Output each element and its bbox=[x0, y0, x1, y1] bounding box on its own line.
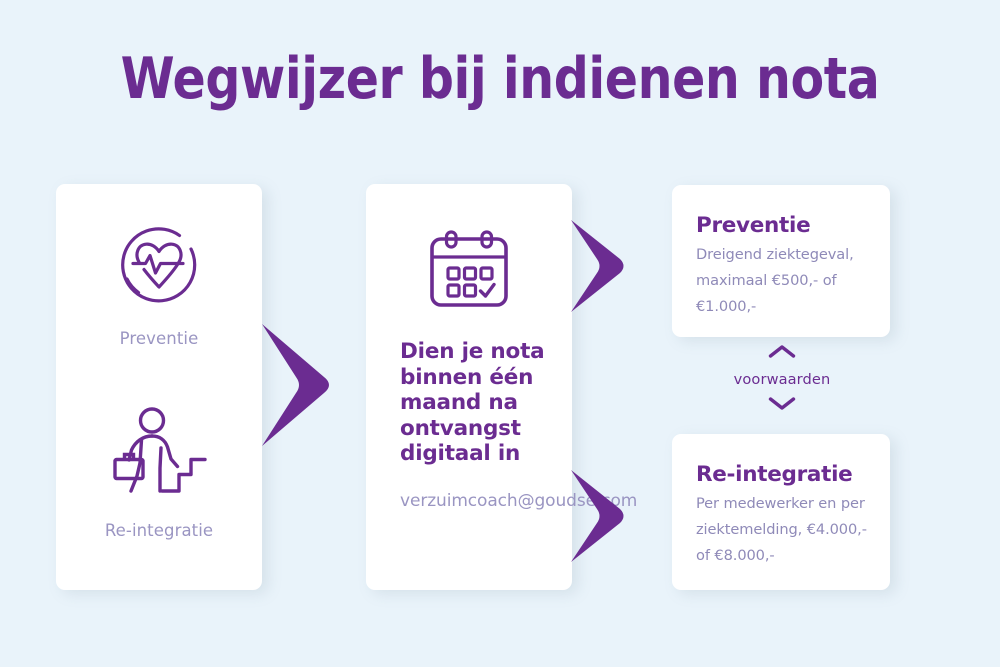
conditions-label: voorwaarden bbox=[700, 370, 864, 390]
card-categories: Preventie Re-integratie bbox=[56, 184, 262, 590]
category-re-integratie: Re-integratie bbox=[56, 406, 262, 540]
category-preventie: Preventie bbox=[56, 218, 262, 348]
category-label: Re-integratie bbox=[56, 521, 262, 540]
outcome-body: Per medewerker en per ziektemelding, €4.… bbox=[696, 491, 871, 569]
card-instruction: Dien je nota binnen één maand na ontvang… bbox=[366, 184, 572, 590]
category-label: Preventie bbox=[56, 329, 262, 348]
chevron-up-icon bbox=[700, 344, 864, 364]
outcome-heading: Preventie bbox=[696, 213, 810, 238]
page-title: Wegwijzer bij indienen nota bbox=[70, 46, 930, 112]
arrow-right-icon bbox=[568, 218, 634, 319]
card-outcome-preventie: Preventie Dreigend ziektegeval, maximaal… bbox=[672, 185, 890, 337]
calendar-check-icon bbox=[366, 230, 572, 317]
infographic-canvas: Wegwijzer bij indienen nota Preventie bbox=[0, 0, 1000, 667]
outcome-body: Dreigend ziektegeval, maximaal €500,- of… bbox=[696, 242, 871, 320]
conditions-connector: voorwaarden bbox=[700, 344, 864, 416]
contact-email: verzuimcoach@goudse.com bbox=[400, 489, 560, 514]
card-outcome-re-integratie: Re-integratie Per medewerker en per ziek… bbox=[672, 434, 890, 590]
outcome-heading: Re-integratie bbox=[696, 462, 852, 487]
chevron-down-icon bbox=[700, 396, 864, 416]
heart-pulse-icon bbox=[56, 218, 262, 315]
arrow-right-icon bbox=[568, 468, 634, 569]
person-stairs-briefcase-icon bbox=[56, 406, 262, 507]
arrow-right-icon bbox=[258, 322, 342, 453]
instruction-heading: Dien je nota binnen één maand na ontvang… bbox=[400, 339, 550, 467]
